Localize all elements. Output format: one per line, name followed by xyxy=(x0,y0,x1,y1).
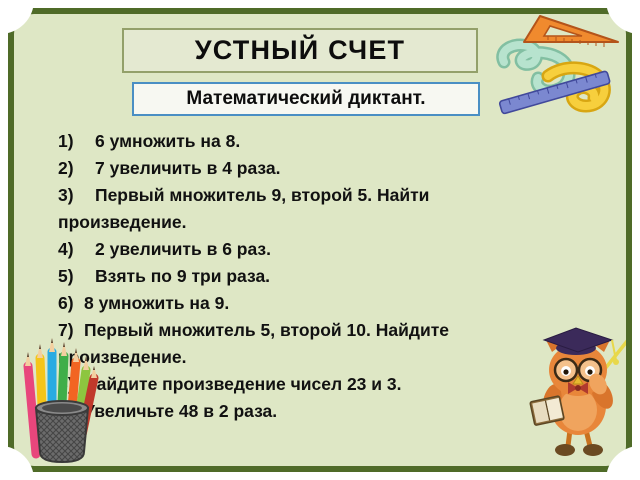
task-text: 8 умножить на 9. xyxy=(84,293,229,313)
frame-bleed-right xyxy=(632,0,640,480)
frame-bleed-left xyxy=(0,0,8,480)
task-text: Первый множитель 5, второй 10. Найдите xyxy=(84,320,449,340)
task-number: 4) xyxy=(58,236,95,263)
task-line: 1)6 умножить на 8. xyxy=(58,128,588,155)
slide-canvas: 1)6 умножить на 8.2)7 увеличить в 4 раза… xyxy=(0,0,640,480)
task-continuation-line: произведение. xyxy=(58,344,588,371)
task-line: 9)Увеличьте 48 в 2 раза. xyxy=(58,398,588,425)
task-number: 5) xyxy=(58,263,95,290)
task-number: 6) xyxy=(58,290,84,317)
frame-corner-top-left xyxy=(0,0,34,34)
task-text: Взять по 9 три раза. xyxy=(95,266,270,286)
task-line: 6)8 умножить на 9. xyxy=(58,290,588,317)
title-box: УСТНЫЙ СЧЕТ xyxy=(122,28,478,73)
task-number: 2) xyxy=(58,155,95,182)
task-text: 7 увеличить в 4 раза. xyxy=(95,158,281,178)
task-line: 5)Взять по 9 три раза. xyxy=(58,263,588,290)
task-number: 1) xyxy=(58,128,95,155)
task-continuation-line: произведение. xyxy=(58,209,588,236)
task-text: 6 умножить на 8. xyxy=(95,131,240,151)
frame-bleed-bottom xyxy=(0,472,640,480)
subtitle-box: Математический диктант. xyxy=(132,82,480,116)
drawing-tools-illustration xyxy=(478,10,630,118)
task-line: 2)7 увеличить в 4 раза. xyxy=(58,155,588,182)
frame-bleed-top xyxy=(0,0,640,8)
task-text: Найдите произведение чисел 23 и 3. xyxy=(84,374,402,394)
pencil-cup-illustration xyxy=(14,322,118,470)
task-line: 4)2 увеличить в 6 раз. xyxy=(58,236,588,263)
task-number: 3) xyxy=(58,182,95,209)
owl-teacher-illustration xyxy=(528,318,636,468)
task-line: 8)Найдите произведение чисел 23 и 3. xyxy=(58,371,588,398)
task-text: произведение. xyxy=(58,212,186,232)
task-line: 7)Первый множитель 5, второй 10. Найдите xyxy=(58,317,588,344)
task-text: 2 увеличить в 6 раз. xyxy=(95,239,271,259)
page-subtitle: Математический диктант. xyxy=(186,88,425,110)
page-title: УСТНЫЙ СЧЕТ xyxy=(195,35,405,66)
task-list: 1)6 умножить на 8.2)7 увеличить в 4 раза… xyxy=(58,128,588,425)
task-text: Первый множитель 9, второй 5. Найти xyxy=(95,185,429,205)
task-line: 3)Первый множитель 9, второй 5. Найти xyxy=(58,182,588,209)
